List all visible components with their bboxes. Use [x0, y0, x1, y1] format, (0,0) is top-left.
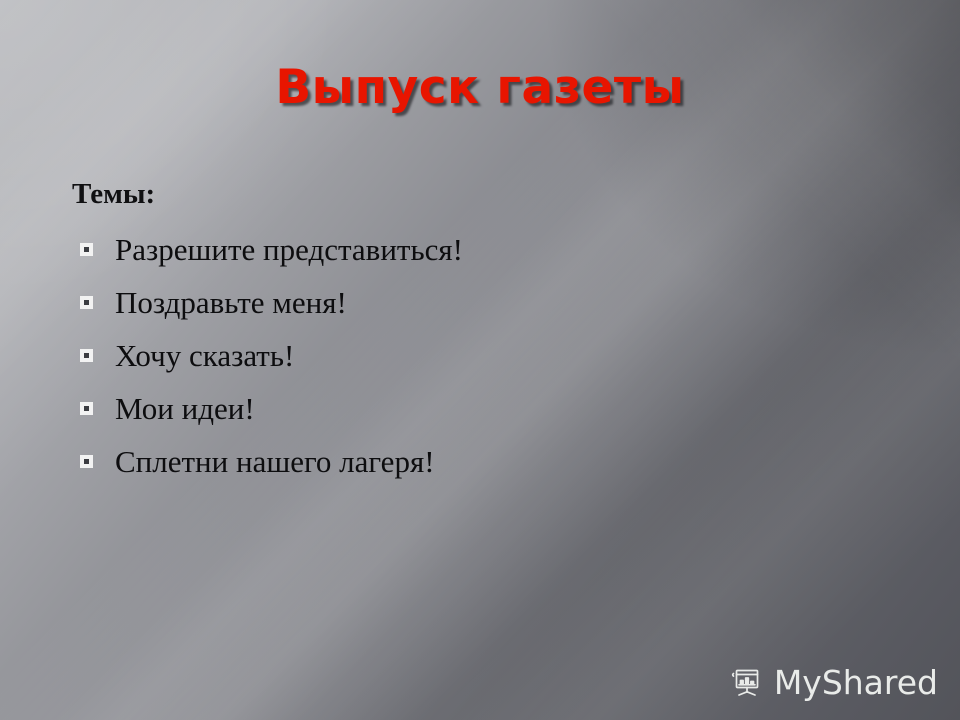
list-item-label: Поздравьте меня!: [115, 287, 347, 318]
bullet-square-icon: [80, 243, 93, 256]
bullet-square-icon: [80, 455, 93, 468]
topics-heading: Темы:: [72, 180, 832, 209]
slide-title: Выпуск газеты: [0, 60, 960, 115]
topics-list: Разрешите представиться! Поздравьте меня…: [72, 223, 832, 488]
myshared-watermark: MyShared: [729, 664, 938, 700]
list-item: Разрешите представиться!: [72, 223, 832, 276]
list-item: Хочу сказать!: [72, 329, 832, 382]
bullet-square-icon: [80, 349, 93, 362]
bullet-square-icon: [80, 402, 93, 415]
myshared-label: MyShared: [774, 666, 938, 699]
presentation-slide: Выпуск газеты Темы: Разрешите представит…: [0, 0, 960, 720]
list-item: Сплетни нашего лагеря!: [72, 435, 832, 488]
slide-body: Темы: Разрешите представиться! Поздравьт…: [72, 180, 832, 488]
list-item-label: Сплетни нашего лагеря!: [115, 446, 435, 477]
list-item: Мои идеи!: [72, 382, 832, 435]
list-item-label: Хочу сказать!: [115, 340, 294, 371]
list-item-label: Мои идеи!: [115, 393, 255, 424]
list-item: Поздравьте меня!: [72, 276, 832, 329]
list-item-label: Разрешите представиться!: [115, 234, 463, 265]
presentation-chart-icon: [729, 664, 765, 700]
bullet-square-icon: [80, 296, 93, 309]
